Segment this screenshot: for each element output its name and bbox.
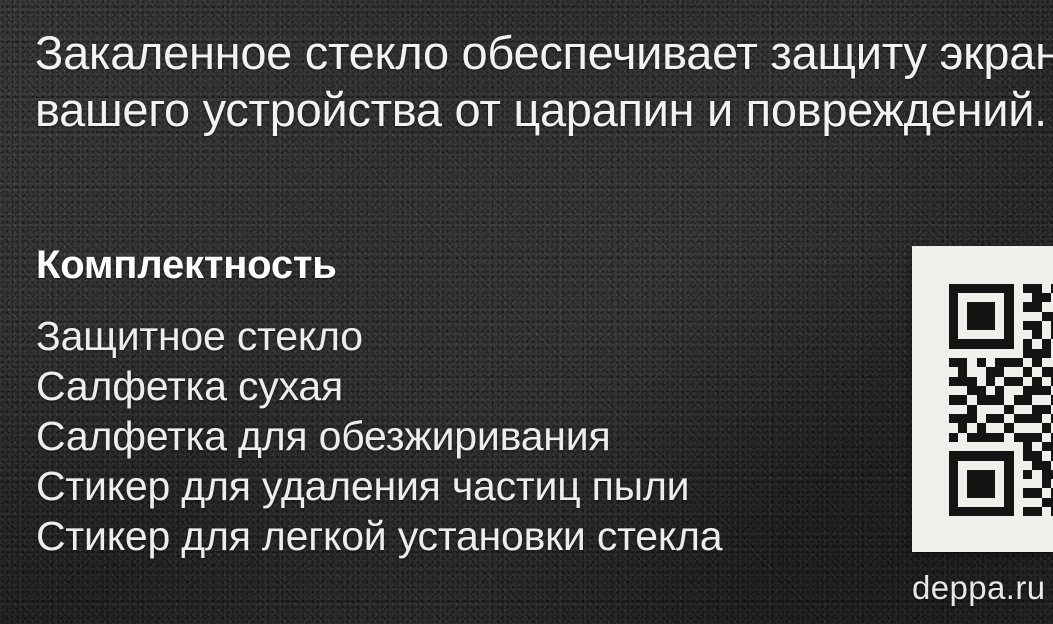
list-item: Стикер для удаления частиц пыли (36, 461, 722, 511)
list-item: Салфетка для обезжиривания (36, 411, 722, 461)
qr-block: deppa.ru (912, 246, 1053, 606)
packaging-photo: Закаленное стекло обеспечивает защиту эк… (0, 0, 1053, 624)
qr-code (930, 265, 1053, 535)
qr-panel (912, 246, 1053, 552)
list-item: Стикер для легкой установки стекла (36, 511, 722, 561)
intro-paragraph: Закаленное стекло обеспечивает защиту эк… (35, 24, 1053, 138)
intro-line-1: Закаленное стекло обеспечивает защиту эк… (35, 24, 1053, 81)
contents-heading: Комплектность (36, 242, 337, 288)
list-item: Салфетка сухая (36, 361, 722, 411)
qr-caption: deppa.ru (912, 570, 1053, 606)
list-item: Защитное стекло (36, 311, 722, 361)
contents-list: Защитное стекло Салфетка сухая Салфетка … (36, 311, 722, 561)
intro-line-2: вашего устройства от царапин и поврежден… (35, 81, 1053, 138)
